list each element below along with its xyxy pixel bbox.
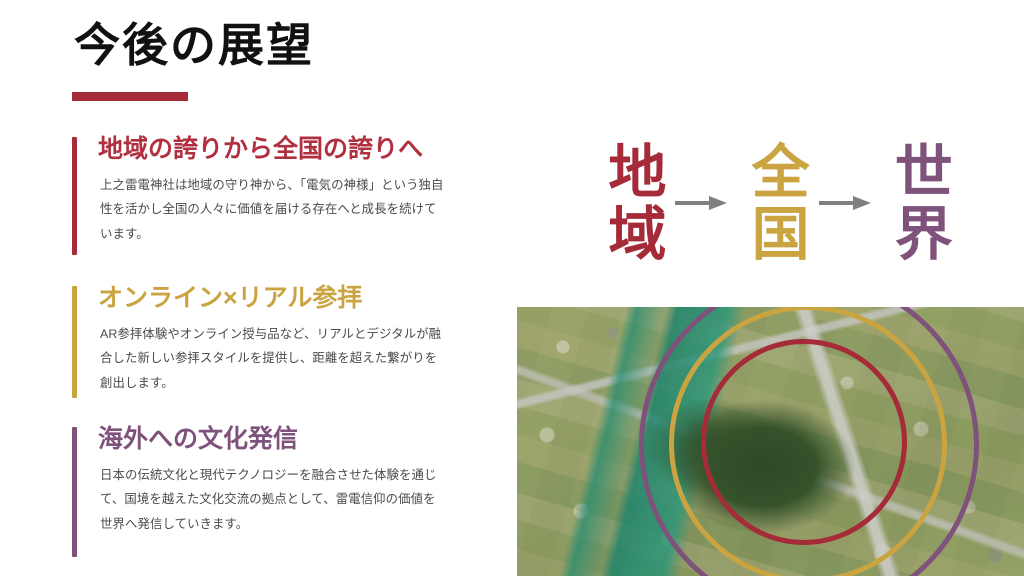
section-heading: 地域の誇りから全国の誇りへ (98, 134, 462, 165)
section-overseas-culture: 海外への文化発信 日本の伝統文化と現代テクノロジーを融合させた体験を通じて、国境… (72, 424, 462, 536)
section-body-text: 上之雷電神社は地域の守り神から、「電気の神様」という独自性を活かし全国の人々に価… (100, 173, 448, 246)
right-arrow-icon (675, 196, 731, 210)
section-accent-bar (72, 427, 77, 557)
slide-canvas: 今後の展望 地域の誇りから全国の誇りへ 上之雷電神社は地域の守り神から、「電気の… (0, 0, 1024, 576)
page-title: 今後の展望 (74, 18, 314, 73)
flow-step-local: 地域 (602, 128, 661, 278)
title-underline-rule (72, 92, 188, 101)
aerial-photo (517, 307, 1024, 576)
section-heading: 海外への文化発信 (98, 424, 462, 455)
scope-flow-diagram: 地域 全国 世界 (540, 118, 1010, 288)
flow-step-world: 世界 (889, 128, 948, 278)
section-body-text: 日本の伝統文化と現代テクノロジーを融合させた体験を通じて、国境を越えた文化交流の… (100, 463, 448, 536)
flow-step-nation: 全国 (745, 128, 804, 278)
section-online-real-worship: オンライン×リアル参拝 AR参拝体験やオンライン授与品など、リアルとデジタルが融… (72, 283, 462, 395)
section-body-text: AR参拝体験やオンライン授与品など、リアルとデジタルが融合した新しい参拝スタイル… (100, 322, 448, 395)
section-local-pride: 地域の誇りから全国の誇りへ 上之雷電神社は地域の守り神から、「電気の神様」という… (72, 134, 462, 246)
right-arrow-icon (819, 196, 875, 210)
section-heading: オンライン×リアル参拝 (98, 283, 462, 314)
section-accent-bar (72, 137, 77, 255)
local-circle-overlay (701, 339, 907, 545)
section-accent-bar (72, 286, 77, 398)
